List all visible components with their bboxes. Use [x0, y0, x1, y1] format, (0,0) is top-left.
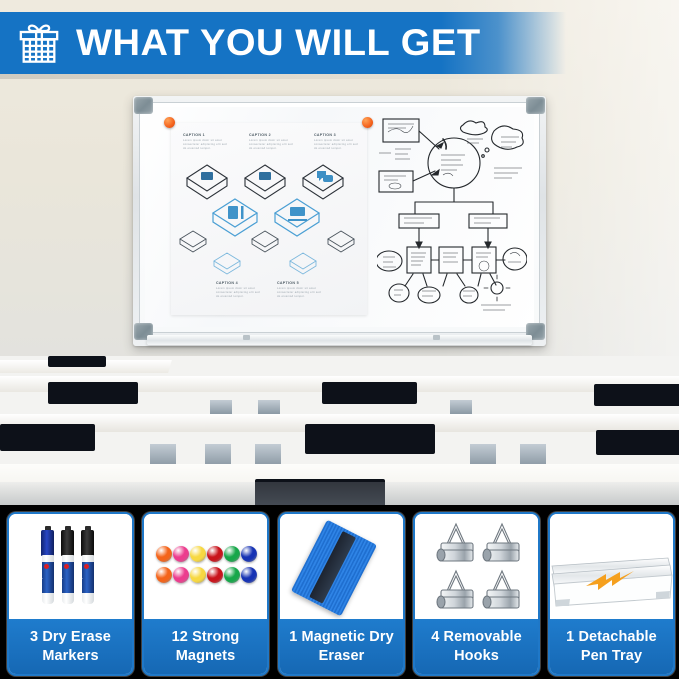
hook-3 — [437, 571, 473, 608]
card-label-markers: 3 Dry EraseMarkers — [9, 619, 132, 674]
poster-magnet-left — [164, 117, 175, 128]
tile-clock — [290, 253, 316, 274]
magnet — [224, 567, 240, 583]
magnet — [241, 546, 257, 562]
hook-2 — [483, 524, 519, 561]
tile-briefcase — [252, 231, 278, 252]
tile-id-card — [245, 165, 285, 199]
magnet — [224, 546, 240, 562]
whiteboard-pen-tray — [147, 335, 532, 345]
desk-leg-2d — [470, 444, 496, 466]
magnet — [241, 567, 257, 583]
marker-black-1: Erasing — [61, 530, 74, 604]
poster-magnet-right — [362, 117, 373, 128]
desk-leg-2e — [520, 444, 546, 466]
chair-row1-a — [48, 382, 138, 404]
poster-caption-5: CAPTION 5 Lorem ipsum dolor sit amet con… — [277, 281, 325, 299]
chair-row2-a — [0, 424, 95, 451]
card-removable-hooks[interactable]: 4 RemovableHooks — [413, 512, 540, 676]
magnet — [156, 567, 172, 583]
magnet — [190, 546, 206, 562]
dry-eraser-body — [291, 520, 377, 617]
magnet — [173, 546, 189, 562]
poster-caption-3: CAPTION 3 Lorem ipsum dolor sit amet con… — [314, 133, 362, 151]
hook-1 — [437, 524, 473, 561]
tile-printer — [328, 231, 354, 252]
tile-chat-bubble — [303, 165, 343, 199]
eraser-image — [280, 514, 403, 619]
magnet — [190, 567, 206, 583]
card-label-eraser: 1 Magnetic DryEraser — [280, 619, 403, 674]
poster: CAPTION 1 Lorem ipsum dolor sit amet con… — [171, 123, 367, 315]
pen-tray-image — [550, 514, 673, 619]
marker-black-2: Erasing — [81, 530, 94, 604]
whiteboard-corner-top-left — [134, 97, 153, 114]
desk-leg-1b — [258, 400, 280, 414]
desk-leg-1c — [450, 400, 472, 414]
card-label-pen-tray: 1 DetachablePen Tray — [550, 619, 673, 674]
magnet — [207, 567, 223, 583]
whiteboard-sketch — [377, 115, 527, 311]
hooks-image — [415, 514, 538, 619]
desk-leg-2c — [255, 444, 281, 466]
desk-leg-2a — [150, 444, 176, 466]
chair-back-0 — [48, 356, 106, 367]
header-banner: WHAT YOU WILL GET — [0, 12, 566, 74]
magnet — [173, 567, 189, 583]
magnet — [156, 546, 172, 562]
poster-caption-4: CAPTION 4 Lorem ipsum dolor sit amet con… — [216, 281, 264, 299]
poster-isometric-tiles — [177, 151, 361, 277]
gift-icon — [16, 21, 62, 65]
tile-pie-chart — [214, 253, 240, 274]
poster-caption-2: CAPTION 2 Lorem ipsum dolor sit amet con… — [249, 133, 297, 151]
markers-image: Erasing Erasing Erasing — [9, 514, 132, 619]
poster-caption-1: CAPTION 1 Lorem ipsum dolor sit amet con… — [183, 133, 231, 151]
tile-presentation — [275, 199, 319, 236]
magnets-image — [144, 514, 267, 619]
whiteboard-corner-top-right — [526, 97, 545, 114]
page-title: WHAT YOU WILL GET — [76, 22, 481, 64]
pen-tray-clip-right — [433, 335, 440, 340]
desk-leg-2b — [205, 444, 231, 466]
classroom-scene — [0, 356, 679, 508]
chair-row2-c — [596, 430, 679, 455]
tile-org-chart — [180, 231, 206, 252]
card-label-hooks: 4 RemovableHooks — [415, 619, 538, 674]
chair-row2-b — [305, 424, 435, 454]
marker-blue: Erasing — [41, 530, 54, 604]
magnet — [207, 546, 223, 562]
banner-shadow — [0, 74, 540, 79]
whiteboard: CAPTION 1 Lorem ipsum dolor sit amet con… — [133, 96, 546, 346]
desk-leg-1a — [210, 400, 232, 414]
card-detachable-pen-tray[interactable]: 1 DetachablePen Tray — [548, 512, 675, 676]
hook-4 — [483, 571, 519, 608]
card-magnetic-dry-eraser[interactable]: 1 Magnetic DryEraser — [278, 512, 405, 676]
tile-chart-laptop — [187, 165, 227, 199]
card-dry-erase-markers[interactable]: Erasing Erasing Erasing 3 Dry EraseMarke… — [7, 512, 134, 676]
product-infographic: WHAT YOU WILL GET CAPTION 1 Lorem ipsum … — [0, 0, 679, 679]
pen-tray-clip-left — [243, 335, 250, 340]
whiteboard-surface: CAPTION 1 Lorem ipsum dolor sit amet con… — [145, 107, 534, 327]
chair-row1-c — [594, 384, 679, 406]
card-strong-magnets[interactable]: 12 StrongMagnets — [142, 512, 269, 676]
chair-row1-b — [322, 382, 417, 404]
card-label-magnets: 12 StrongMagnets — [144, 619, 267, 674]
product-cards-strip: Erasing Erasing Erasing 3 Dry EraseMarke… — [0, 505, 679, 679]
